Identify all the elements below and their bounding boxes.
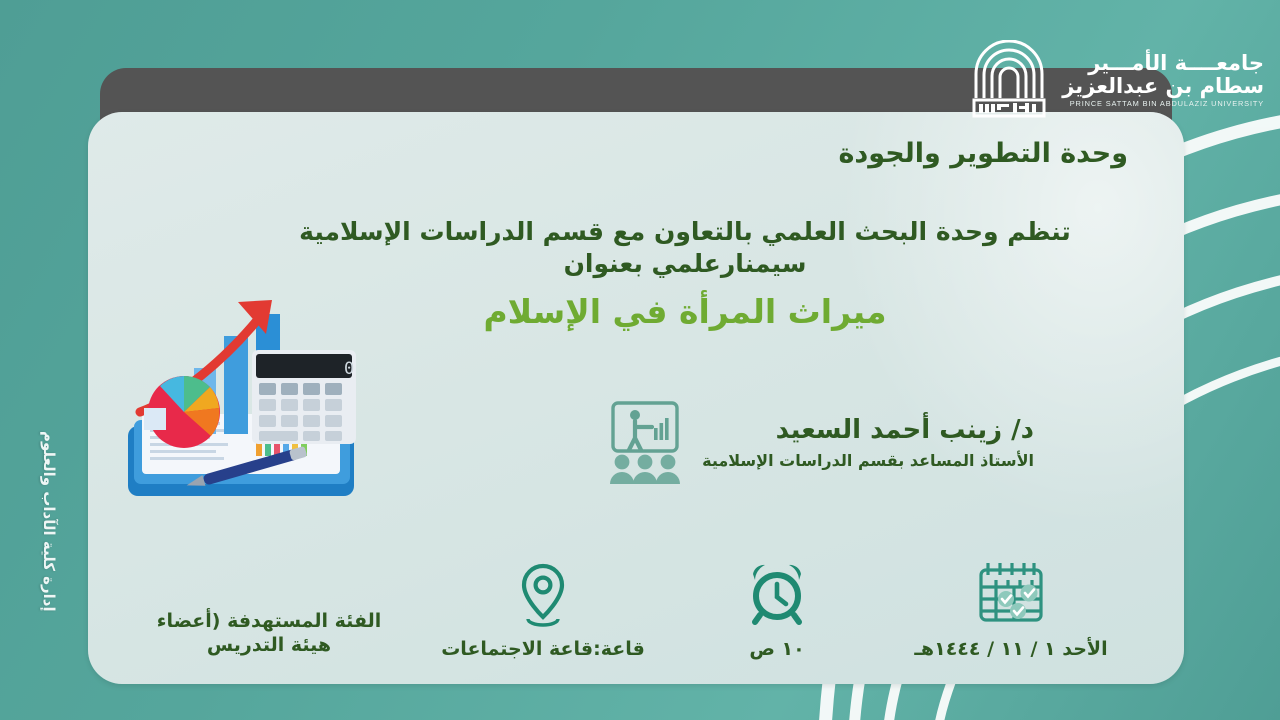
- speaker-role: الأستاذ المساعد بقسم الدراسات الإسلامية: [702, 451, 1034, 472]
- svg-text:0: 0: [344, 359, 354, 379]
- calendar-icon: [974, 557, 1048, 631]
- side-strip-label: إدارة كلية الآداب والعلوم: [40, 431, 58, 612]
- alarm-clock-icon: [740, 557, 814, 631]
- page-title: وحدة التطوير والجودة: [838, 138, 1128, 169]
- logo-english-line: PRINCE SATTAM BIN ABDULAZIZ UNIVERSITY: [1062, 100, 1264, 108]
- business-analytics-illustration: 0: [106, 290, 380, 516]
- detail-place: قاعة:قاعة الاجتماعات: [418, 557, 668, 662]
- place-label: قاعة:قاعة الاجتماعات: [441, 637, 645, 662]
- speaker-name: د/ زينب أحمد السعيد: [702, 414, 1034, 447]
- event-details-row: الأحد ١ / ١١ / ١٤٤٤هـ ١٠ ص: [88, 512, 1184, 662]
- speaker-text: د/ زينب أحمد السعيد الأستاذ المساعد بقسم…: [702, 414, 1034, 471]
- poster-card: وحدة التطوير والجودة تنظم وحدة البحث الع…: [88, 112, 1184, 684]
- logo-wordmark: جامعــــة الأمـــير سطام بن عبدالعزيز PR…: [1062, 52, 1264, 107]
- logo-arabic-line-1: جامعــــة الأمـــير: [1062, 52, 1264, 74]
- detail-time: ١٠ ص: [692, 557, 862, 662]
- detail-date: الأحد ١ / ١١ / ١٤٤٤هـ: [886, 557, 1136, 662]
- presenter-board-icon: [604, 400, 686, 486]
- logo-arabic-line-2: سطام بن عبدالعزيز: [1062, 75, 1264, 97]
- location-pin-icon: [506, 557, 580, 631]
- date-label: الأحد ١ / ١١ / ١٤٤٤هـ: [914, 637, 1107, 662]
- detail-audience: الفئة المستهدفة (أعضاء هيئة التدريس: [144, 609, 394, 662]
- organizer-line-1: تنظم وحدة البحث العلمي بالتعاون مع قسم ا…: [238, 216, 1132, 248]
- organizer-line-2: سيمنارعلمي بعنوان: [238, 248, 1132, 280]
- seminar-poster: وحدة التطوير والجودة تنظم وحدة البحث الع…: [0, 0, 1280, 720]
- speaker-block: د/ زينب أحمد السعيد الأستاذ المساعد بقسم…: [604, 400, 1034, 486]
- university-logo: جامعــــة الأمـــير سطام بن عبدالعزيز PR…: [966, 40, 1264, 120]
- university-arch-emblem: [966, 40, 1052, 120]
- card-sheen: [804, 112, 1184, 572]
- time-label: ١٠ ص: [749, 637, 804, 662]
- audience-label: الفئة المستهدفة (أعضاء هيئة التدريس: [144, 609, 394, 658]
